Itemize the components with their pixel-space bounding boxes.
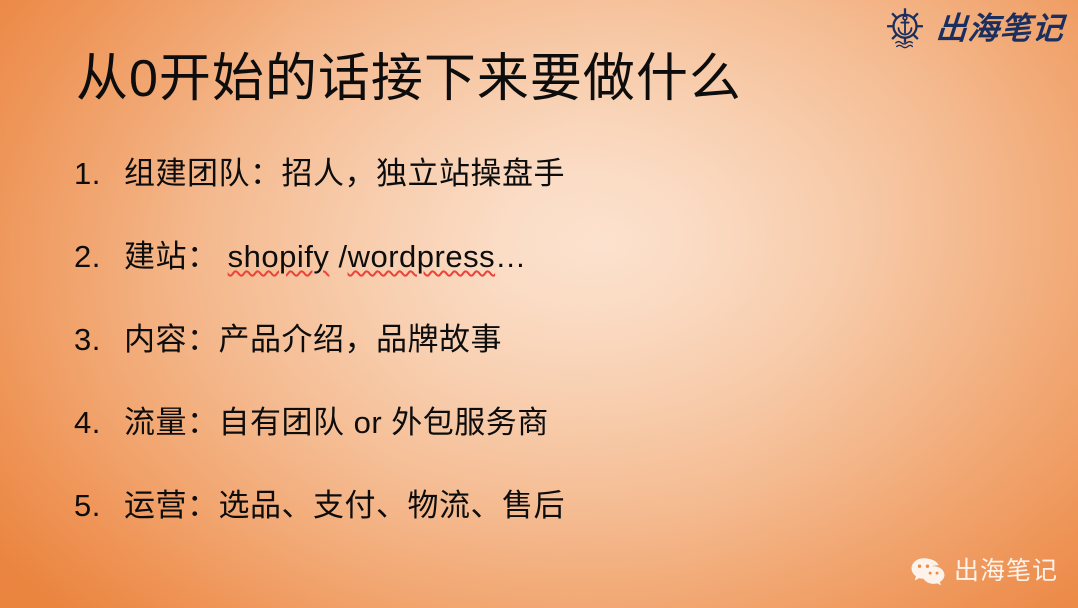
- presentation-slide: 出海笔记 从0开始的话接下来要做什么 1. 组建团队：招人，独立站操盘手 2. …: [0, 0, 1078, 608]
- list-item-number: 2.: [74, 239, 124, 275]
- list-item-number: 4.: [74, 405, 124, 441]
- list-item-text: 组建团队：招人，独立站操盘手: [124, 148, 954, 193]
- list-item-text: 内容：产品介绍，品牌故事: [124, 314, 954, 359]
- list-item-number: 5.: [74, 488, 124, 524]
- brand-logo: 出海笔记: [882, 6, 1064, 52]
- agenda-list: 1. 组建团队：招人，独立站操盘手 2. 建站： shopify /wordpr…: [74, 148, 954, 563]
- list-item-text: 建站： shopify /wordpress…: [124, 231, 954, 276]
- list-item: 1. 组建团队：招人，独立站操盘手: [74, 148, 954, 231]
- list-item-text: 运营：选品、支付、物流、售后: [124, 480, 954, 525]
- wechat-icon: [911, 557, 945, 586]
- wechat-label: 出海笔记: [954, 559, 1058, 584]
- misspelled-word-wordpress: wordpress: [348, 239, 496, 274]
- brand-wordmark: 出海笔记: [935, 14, 1065, 45]
- ellipsis-text: …: [495, 239, 527, 274]
- list-item: 5. 运营：选品、支付、物流、售后: [74, 480, 954, 563]
- list-item: 2. 建站： shopify /wordpress…: [74, 231, 954, 314]
- list-item: 3. 内容：产品介绍，品牌故事: [74, 314, 954, 397]
- list-item: 4. 流量：自有团队 or 外包服务商: [74, 397, 954, 480]
- ship-wheel-anchor-icon: [882, 6, 928, 52]
- list-item-text: 流量：自有团队 or 外包服务商: [124, 397, 954, 442]
- list-item-label: 建站：: [124, 239, 219, 274]
- separator-text: /: [329, 239, 347, 274]
- list-item-number: 3.: [74, 322, 124, 358]
- list-item-number: 1.: [74, 156, 124, 192]
- misspelled-word-shopify: shopify: [228, 239, 330, 274]
- page-title: 从0开始的话接下来要做什么: [76, 50, 742, 108]
- wechat-badge: 出海笔记: [911, 557, 1058, 586]
